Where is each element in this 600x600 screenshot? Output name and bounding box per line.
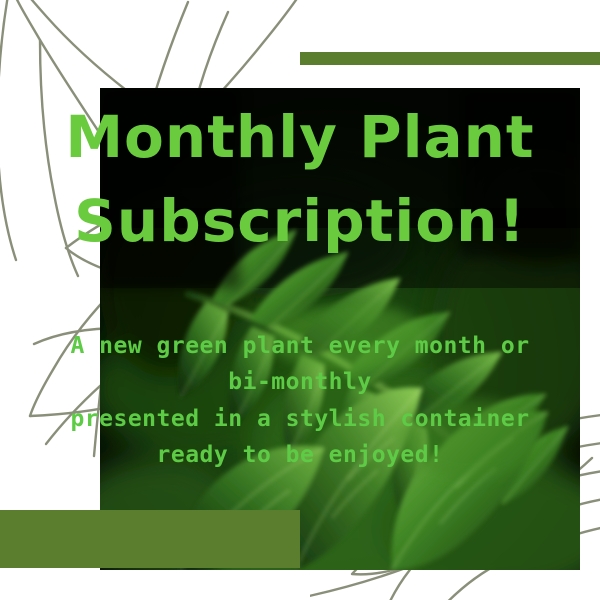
accent-block-bottom [0,510,300,568]
accent-bar-top [300,52,600,65]
page-title: Monthly Plant Subscription! [0,96,600,263]
body-copy: A new green plant every month or bi-mont… [0,328,600,473]
poster-canvas: Monthly Plant Subscription! A new green … [0,0,600,600]
